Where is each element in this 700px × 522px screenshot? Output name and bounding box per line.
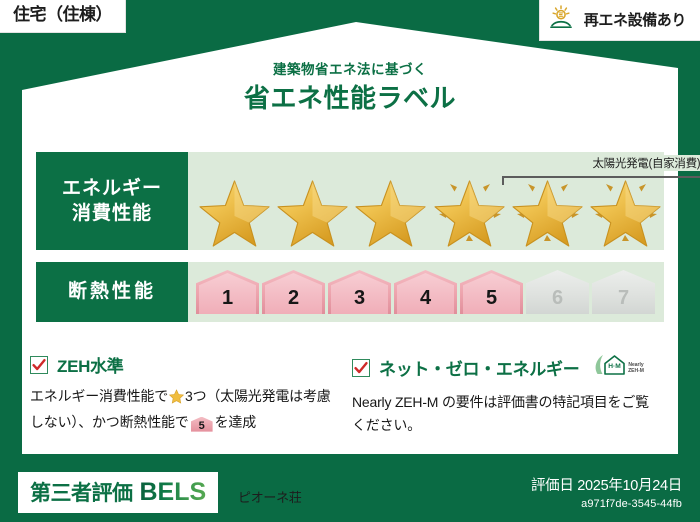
zeh-body-part1: エネルギー消費性能で (30, 388, 168, 404)
footer: 第三者評価 BELS ピオーネ荘 評価日 2025年10月24日 a971f7d… (0, 462, 700, 522)
solar-sun-icon (550, 5, 576, 34)
solar-bracket (502, 176, 700, 185)
insulation-badge-1: 1 (196, 270, 259, 314)
bels-wordmark: BELS (140, 478, 207, 507)
insulation-performance-body: 1234567 (188, 262, 664, 322)
zeh-body-part3: を達成 (215, 414, 256, 430)
star-4 (430, 168, 508, 248)
energy-performance-label: 住宅（住棟） 再エネ設備あり 建築物省エネ法に基づく 省エネ性能ラベル (0, 0, 700, 522)
insulation-performance-row: 断熱性能 1234567 (36, 262, 664, 322)
net-zero-energy-column: ネット・ゼロ・エネルギー H·M Nearly ZEH-M Nearly ZEH… (352, 352, 674, 436)
insulation-badge-7: 7 (592, 270, 655, 314)
star-icon (169, 388, 184, 411)
insulation-badge-list: 1234567 (188, 262, 664, 322)
evaluation-date: 評価日 2025年10月24日 (531, 474, 682, 495)
bels-plate: 第三者評価 BELS (18, 472, 218, 513)
building-name: ピオーネ荘 (238, 487, 302, 506)
svg-text:ZEH-M: ZEH-M (628, 368, 644, 374)
star-3 (351, 168, 429, 248)
check-icon (352, 359, 370, 377)
page-title: 省エネ性能ラベル (0, 83, 700, 114)
evaluation-id: a971f7de-3545-44fb (531, 498, 682, 510)
net-zero-energy-title: ネット・ゼロ・エネルギー (379, 355, 579, 380)
zeh-standard-body: エネルギー消費性能で3つ（太陽光発電は考慮しない）、かつ断熱性能で5を達成 (30, 385, 338, 433)
insulation-badge-2: 2 (262, 270, 325, 314)
zeh-standard-title: ZEH水準 (57, 352, 124, 377)
solar-bracket-label: 太陽光発電(自家消費)分 (502, 155, 700, 171)
renewable-equipment-badge: 再エネ設備あり (539, 0, 700, 41)
label-subtitle: 建築物省エネ法に基づく (0, 62, 700, 78)
net-zero-energy-body: Nearly ZEH-M の要件は評価書の特記項目をご覧ください。 (352, 391, 660, 436)
nearly-zeh-m-logo: H·M Nearly ZEH-M (594, 352, 650, 383)
insulation-badge-4: 4 (394, 270, 457, 314)
insulation-performance-label: 断熱性能 (36, 262, 188, 322)
energy-performance-row: エネルギー 消費性能 太陽光発電(自家消費)分 (36, 152, 664, 250)
zeh-standard-heading: ZEH水準 (30, 352, 338, 377)
insulation-badge-3: 3 (328, 270, 391, 314)
zeh-standard-column: ZEH水準 エネルギー消費性能で3つ（太陽光発電は考慮しない）、かつ断熱性能で5… (30, 352, 352, 436)
energy-performance-body: 太陽光発電(自家消費)分 (188, 152, 664, 250)
category-tag: 住宅（住棟） (0, 0, 126, 33)
star-2 (273, 168, 351, 248)
star-1 (195, 168, 273, 248)
third-party-evaluation-label: 第三者評価 (30, 477, 133, 507)
svg-text:H·M: H·M (609, 363, 622, 370)
criteria-columns: ZEH水準 エネルギー消費性能で3つ（太陽光発電は考慮しない）、かつ断熱性能で5… (0, 352, 700, 436)
renewable-badge-label: 再エネ設備あり (584, 9, 686, 30)
check-icon (30, 356, 48, 374)
heading-block: 建築物省エネ法に基づく 省エネ性能ラベル (0, 62, 700, 114)
net-zero-energy-heading: ネット・ゼロ・エネルギー H·M Nearly ZEH-M (352, 352, 660, 383)
insulation-badge-5: 5 (460, 270, 523, 314)
energy-label-line2: 消費性能 (72, 201, 152, 226)
insulation-level-inline-badge: 5 (191, 417, 213, 432)
insulation-badge-6: 6 (526, 270, 589, 314)
evaluation-info: 評価日 2025年10月24日 a971f7de-3545-44fb (531, 474, 682, 510)
energy-performance-label: エネルギー 消費性能 (36, 152, 188, 250)
energy-label-line1: エネルギー (62, 176, 162, 201)
